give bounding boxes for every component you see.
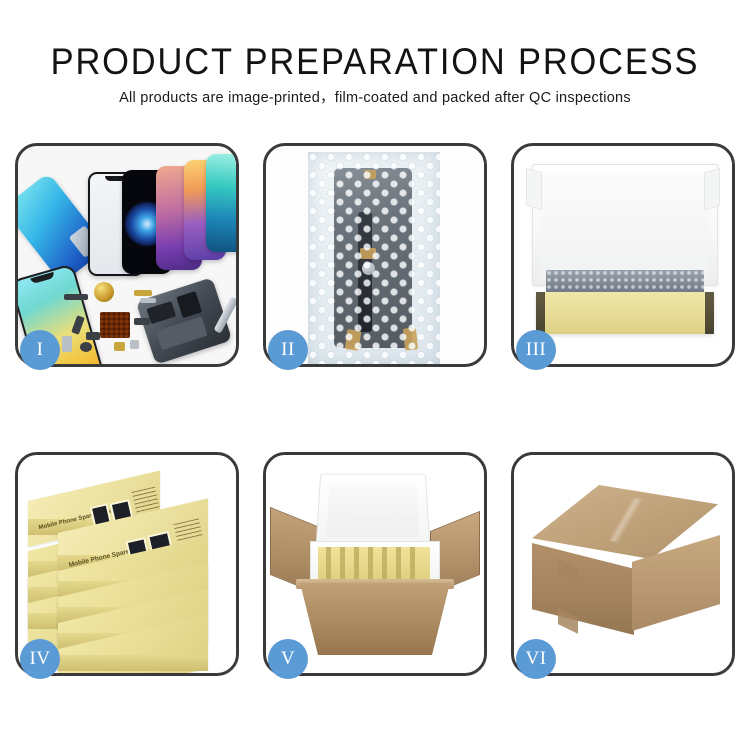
lid-flap-left-icon [526,168,542,211]
step-3-illustration [514,146,732,364]
step-6-illustration [514,455,732,673]
step-badge-5: V [268,639,308,679]
box-stack-icon: Mobile Phone Spare Parts Mobile Phone Sp… [22,465,234,669]
step-numeral-2: II [281,339,295,361]
step-2-illustration [266,146,484,364]
part-bracket-icon [134,318,150,325]
part-camera-icon [80,342,92,352]
step-badge-4: IV [20,639,60,679]
bubble-wrap-bag-icon [308,152,440,364]
step-numeral-5: V [281,648,295,670]
phone-screen-teal-icon [206,154,236,252]
step-numeral-3: III [526,339,546,361]
white-box-lid-icon [532,164,718,286]
step-badge-2: II [268,330,308,370]
step-numeral-4: IV [29,648,50,670]
part-light-strip-icon [140,298,156,303]
stacked-box [58,649,208,671]
copper-shield-grid-icon [100,312,130,338]
yellow-boxes-inside-icon [318,547,430,581]
part-gold-clip-icon [114,342,125,351]
step-4-illustration: Mobile Phone Spare Parts Mobile Phone Sp… [18,455,236,673]
part-gold-flex-icon [134,290,152,296]
step-1-illustration [18,146,236,364]
foam-lid-icon [316,474,431,548]
bubble-texture-icon [308,152,440,364]
yellow-box-base-icon [536,292,714,334]
part-strip-icon [64,294,88,300]
speaker-coil-icon [94,282,114,302]
step-numeral-6: VI [525,648,546,670]
part-button-icon [62,336,72,352]
step-5-illustration [266,455,484,673]
step-badge-6: VI [516,639,556,679]
part-screwset-icon [130,340,139,349]
step-badge-3: III [516,330,556,370]
part-connector-icon [86,332,100,340]
carton-body-icon [300,583,450,655]
step-badge-1: I [20,330,60,370]
lid-flap-right-icon [704,168,720,211]
step-numeral-1: I [37,339,44,361]
process-step-grid: I II [0,0,750,750]
